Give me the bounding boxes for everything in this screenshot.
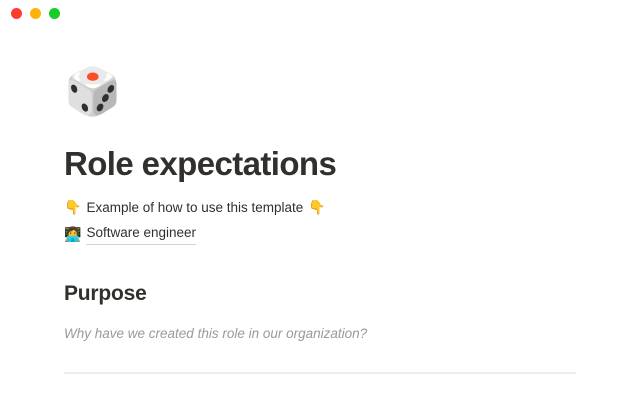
document-content: 🎲 Role expectations 👇 Example of how to … — [0, 26, 640, 400]
minimize-window-button[interactable] — [30, 8, 41, 19]
template-note-line: 👇 Example of how to use this template 👇 — [64, 198, 576, 218]
template-note-text[interactable]: Example of how to use this template — [86, 198, 303, 218]
role-link-line: 👩‍💻 Software engineer — [64, 223, 576, 245]
point-down-icon-left: 👇 — [64, 200, 81, 214]
point-down-icon-right: 👇 — [308, 200, 325, 214]
window-controls — [11, 8, 60, 19]
page-title[interactable]: Role expectations — [64, 144, 576, 184]
section-heading-purpose[interactable]: Purpose — [64, 281, 576, 307]
maximize-window-button[interactable] — [49, 8, 60, 19]
section-divider — [64, 372, 576, 374]
document-canvas[interactable]: 🎲 Role expectations 👇 Example of how to … — [0, 26, 640, 400]
window-titlebar — [0, 0, 640, 26]
role-link-software-engineer[interactable]: Software engineer — [86, 223, 196, 245]
close-window-button[interactable] — [11, 8, 22, 19]
section-hint-purpose[interactable]: Why have we created this role in our org… — [64, 324, 576, 344]
game-die-icon[interactable]: 🎲 — [64, 68, 576, 124]
technologist-icon: 👩‍💻 — [64, 227, 81, 241]
